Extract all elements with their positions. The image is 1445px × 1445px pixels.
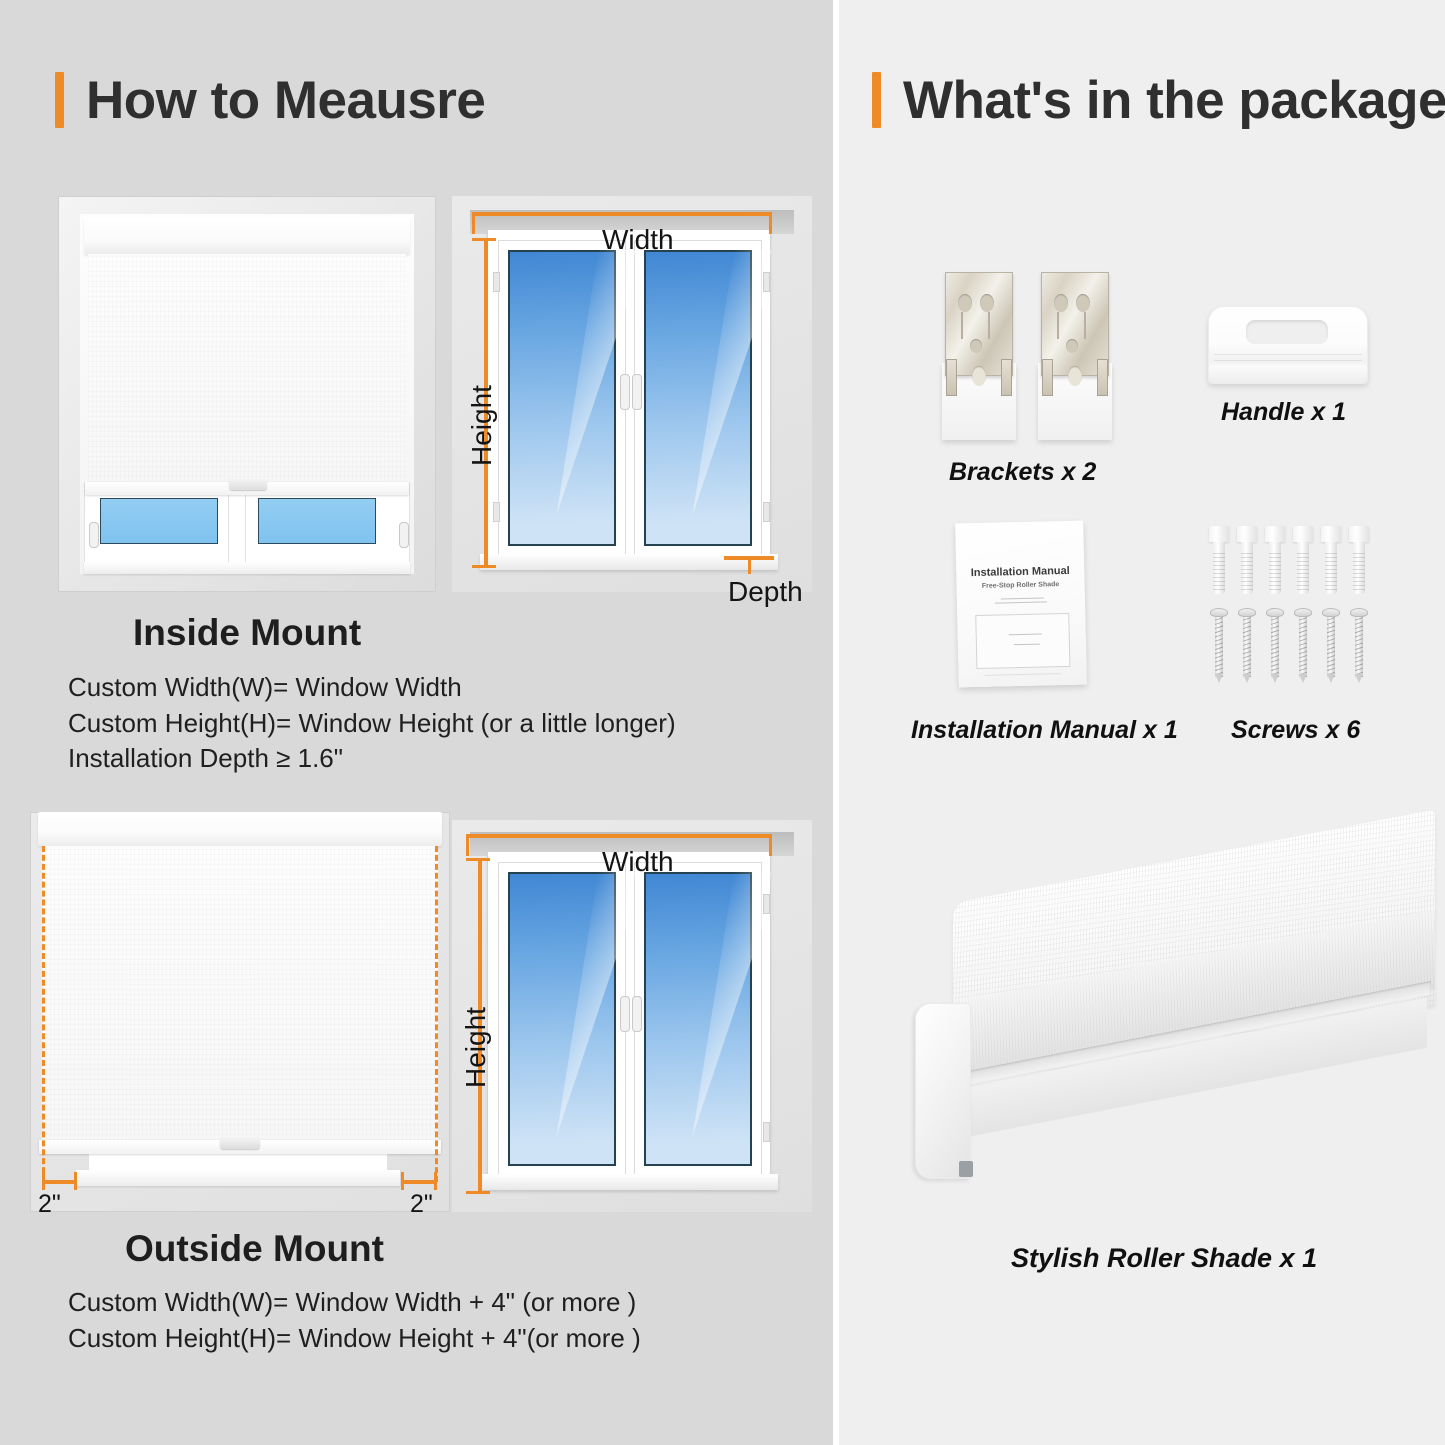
screws-label: Screws x 6 — [1231, 716, 1360, 745]
screws-image — [1207, 522, 1387, 692]
manual-cover-subtitle: Free-Stop Roller Shade — [969, 581, 1072, 590]
outside-mount-line-1: Custom Width(W)= Window Width + 4" (or m… — [68, 1285, 641, 1321]
brackets-label: Brackets x 2 — [949, 458, 1096, 487]
roller-shade-image — [905, 885, 1445, 1230]
label-depth-inside: Depth — [728, 576, 803, 608]
label-overhang-left: 2" — [38, 1190, 61, 1219]
outside-mount-text: Custom Width(W)= Window Width + 4" (or m… — [68, 1285, 641, 1356]
package-heading: What's in the package — [872, 72, 1445, 128]
inside-mount-text: Custom Width(W)= Window Width Custom Hei… — [68, 670, 676, 777]
label-height-inside: Height — [466, 385, 498, 466]
installation-manual-label: Installation Manual x 1 — [911, 716, 1178, 745]
label-overhang-right: 2" — [410, 1190, 433, 1219]
inside-mount-line-1: Custom Width(W)= Window Width — [68, 670, 676, 706]
how-to-measure-heading: How to Meausre — [55, 72, 485, 128]
outside-mount-title: Outside Mount — [125, 1228, 384, 1270]
outside-mount-shade-illustration: 2" 2" — [30, 812, 450, 1212]
label-width-inside: Width — [602, 224, 674, 256]
inside-mount-title: Inside Mount — [133, 612, 361, 654]
handle-label: Handle x 1 — [1221, 398, 1346, 427]
package-contents-panel: What's in the package — [839, 0, 1445, 1445]
handle-image — [1204, 300, 1374, 390]
infographic-page: How to Meausre — [0, 0, 1445, 1445]
roller-shade-label: Stylish Roller Shade x 1 — [1011, 1243, 1317, 1274]
inside-mount-line-2: Custom Height(H)= Window Height (or a li… — [68, 706, 676, 742]
outside-mount-measure-window: Width Height — [452, 820, 812, 1212]
brackets-image — [934, 272, 1134, 442]
accent-bar-icon — [55, 72, 64, 128]
manual-cover-title: Installation Manual — [969, 565, 1072, 579]
how-to-measure-panel: How to Meausre — [0, 0, 833, 1445]
accent-bar-icon-2 — [872, 72, 881, 128]
outside-mount-line-2: Custom Height(H)= Window Height + 4"(or … — [68, 1321, 641, 1357]
label-width-outside: Width — [602, 846, 674, 878]
inside-mount-line-3: Installation Depth ≥ 1.6" — [68, 741, 676, 777]
how-to-measure-title: How to Meausre — [86, 74, 485, 127]
label-height-outside: Height — [460, 1007, 492, 1088]
installation-manual-image: Installation Manual Free-Stop Roller Sha… — [949, 520, 1099, 690]
inside-mount-shade-illustration — [58, 196, 436, 592]
package-title: What's in the package — [903, 74, 1445, 127]
inside-mount-measure-window: Width Height Depth — [452, 196, 812, 592]
